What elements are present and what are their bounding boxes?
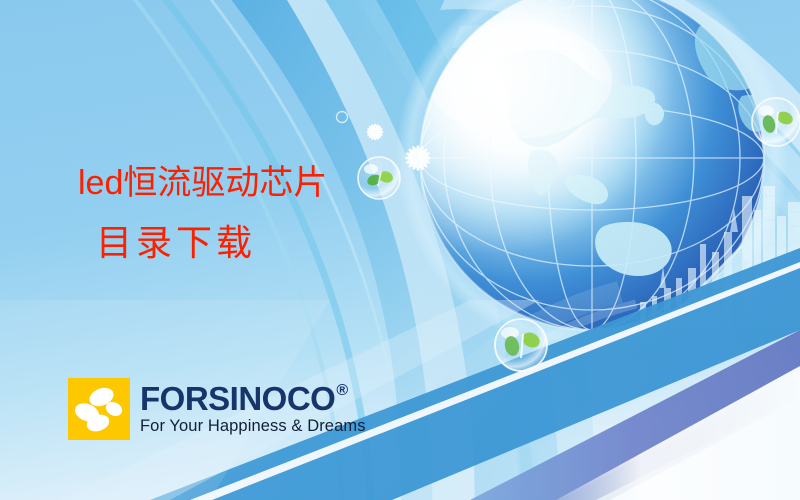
four-petal-flower-icon — [68, 378, 130, 440]
logo-wordmark-text: FORSINOCO — [140, 382, 335, 415]
registered-trademark-symbol: ® — [336, 383, 347, 399]
bubble-left — [358, 157, 400, 199]
logo-wordmark: FORSINOCO ® — [140, 382, 366, 415]
sparkle-flower-large — [405, 145, 431, 171]
company-logo: FORSINOCO ® For Your Happiness & Dreams — [68, 378, 366, 440]
bubble-right — [752, 98, 800, 146]
marketing-banner: led恒流驱动芯片 目录下载 FORSINOCO ® For Your Happ… — [0, 0, 800, 500]
logo-tagline: For Your Happiness & Dreams — [140, 417, 366, 436]
logo-mark — [68, 378, 130, 440]
bubble-center — [495, 319, 547, 371]
logo-text-block: FORSINOCO ® For Your Happiness & Dreams — [140, 382, 366, 436]
